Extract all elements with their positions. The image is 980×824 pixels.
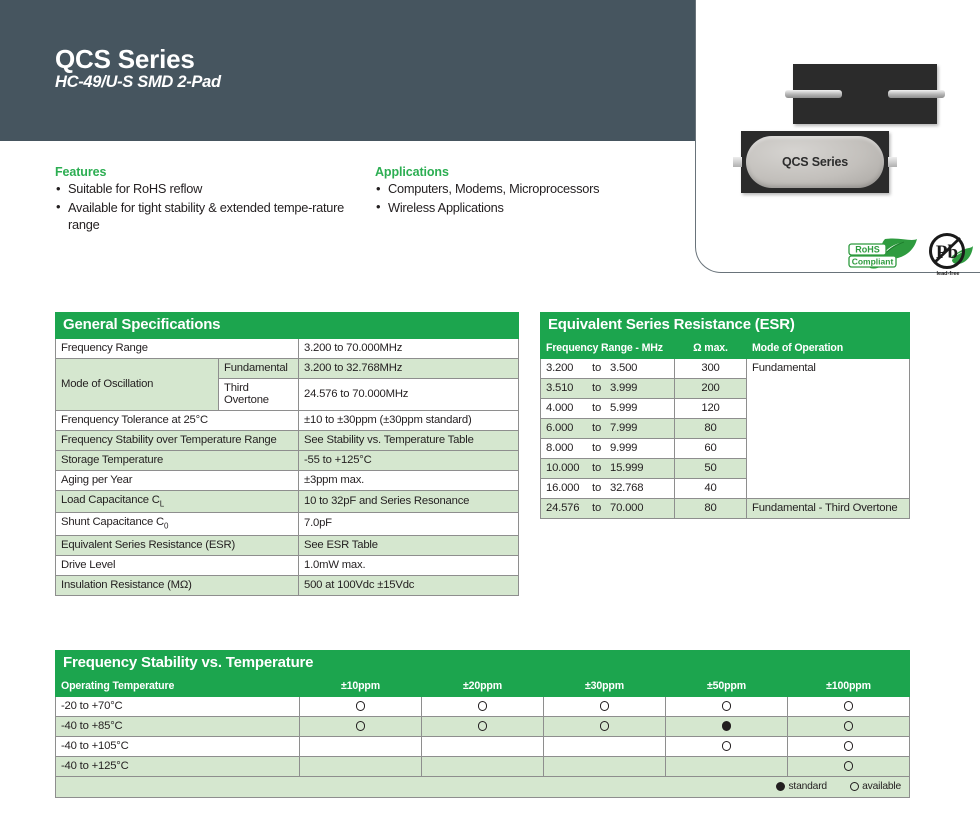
table-row: -40 to +85°C xyxy=(56,717,910,737)
legend-standard-label: standard xyxy=(788,781,826,792)
spec-label: Mode of Oscillation xyxy=(56,359,219,411)
table-row: Equivalent Series Resistance (ESR) See E… xyxy=(56,535,519,555)
spec-sublabel: Third Overtone xyxy=(219,379,299,411)
stability-col-30ppm: ±30ppm xyxy=(544,677,666,697)
stability-col-temperature: Operating Temperature xyxy=(56,677,300,697)
esr-col-frequency: Frequency Range - MHz xyxy=(541,339,675,359)
list-item: Wireless Applications xyxy=(375,199,675,217)
page-title: QCS Series xyxy=(55,44,195,75)
spec-sublabel: Fundamental xyxy=(219,359,299,379)
table-row: Frequency Range 3.200 to 70.000MHz xyxy=(56,339,519,359)
spec-label: Frenquency Tolerance at 25°C xyxy=(56,411,299,431)
available-dot-icon xyxy=(356,701,366,711)
range-to: 3.999 xyxy=(610,382,637,394)
range-sep: to xyxy=(592,362,610,374)
list-item: Suitable for RoHS reflow xyxy=(55,180,360,198)
esr-title: Equivalent Series Resistance (ESR) xyxy=(541,313,910,339)
spec-label-subscript: L xyxy=(160,499,164,508)
range-sep: to xyxy=(592,462,610,474)
table-row: Mode of Oscillation Fundamental 3.200 to… xyxy=(56,359,519,379)
available-dot-icon xyxy=(356,721,366,731)
table-header-row: Operating Temperature ±10ppm ±20ppm ±30p… xyxy=(56,677,910,697)
spec-value: 24.576 to 70.000MHz xyxy=(299,379,519,411)
spec-value: 3.200 to 32.768MHz xyxy=(299,359,519,379)
table-row: 3.200to3.500 300 Fundamental xyxy=(541,359,910,379)
esr-ohms-value: 60 xyxy=(675,439,747,459)
stability-col-20ppm: ±20ppm xyxy=(422,677,544,697)
esr-ohms-value: 200 xyxy=(675,379,747,399)
esr-frequency-range: 8.000to9.999 xyxy=(541,439,675,459)
stability-mark xyxy=(666,697,788,717)
spec-label: Frequency Stability over Temperature Ran… xyxy=(56,431,299,451)
table-row: -40 to +105°C xyxy=(56,737,910,757)
table-row: Aging per Year ±3ppm max. xyxy=(56,471,519,491)
esr-ohms-value: 50 xyxy=(675,459,747,479)
available-dot-icon xyxy=(722,701,732,711)
available-dot-icon xyxy=(844,701,854,711)
spec-label-subscript: 0 xyxy=(164,522,168,531)
esr-ohms-value: 80 xyxy=(675,419,747,439)
crystal-can: QCS Series xyxy=(746,136,884,188)
range-to: 7.999 xyxy=(610,422,637,434)
table-row: Load Capacitance CL 10 to 32pF and Serie… xyxy=(56,491,519,513)
spec-value: 7.0pF xyxy=(299,513,519,535)
spec-label: Equivalent Series Resistance (ESR) xyxy=(56,535,299,555)
stability-mark xyxy=(788,717,910,737)
spec-value: -55 to +125°C xyxy=(299,451,519,471)
table-row: -40 to +125°C xyxy=(56,757,910,777)
spec-value: 1.0mW max. xyxy=(299,555,519,575)
legend-available: available xyxy=(850,781,901,792)
stability-col-10ppm: ±10ppm xyxy=(300,677,422,697)
range-to: 15.999 xyxy=(610,462,643,474)
spec-label: Frequency Range xyxy=(56,339,299,359)
smd-pad-left-icon xyxy=(785,90,842,98)
table-row: Drive Level 1.0mW max. xyxy=(56,555,519,575)
frequency-stability-table: Frequency Stability vs. Temperature Oper… xyxy=(55,650,910,798)
crystal-can-label: QCS Series xyxy=(782,155,848,169)
esr-ohms-value: 300 xyxy=(675,359,747,379)
spec-label: Shunt Capacitance C0 xyxy=(56,513,299,535)
svg-text:Compliant: Compliant xyxy=(852,257,894,267)
range-to: 9.999 xyxy=(610,442,637,454)
spec-label-text: Shunt Capacitance C xyxy=(61,516,164,528)
stability-mark xyxy=(544,757,666,777)
spec-label: Storage Temperature xyxy=(56,451,299,471)
esr-ohms-value: 40 xyxy=(675,479,747,499)
spec-value: See Stability vs. Temperature Table xyxy=(299,431,519,451)
table-banner: Equivalent Series Resistance (ESR) xyxy=(541,313,910,339)
range-to: 3.500 xyxy=(610,362,637,374)
range-from: 8.000 xyxy=(546,442,592,454)
spec-label: Aging per Year xyxy=(56,471,299,491)
stability-legend: standard available xyxy=(56,777,910,798)
esr-table: Equivalent Series Resistance (ESR) Frequ… xyxy=(540,312,910,519)
esr-frequency-range: 3.510to3.999 xyxy=(541,379,675,399)
esr-col-mode: Mode of Operation xyxy=(747,339,910,359)
standard-dot-icon xyxy=(776,782,786,792)
table-row: 24.576to70.000 80 Fundamental - Third Ov… xyxy=(541,499,910,519)
page-subtitle: HC-49/U-S SMD 2-Pad xyxy=(55,73,221,92)
stability-mark xyxy=(300,737,422,757)
esr-frequency-range: 16.000to32.768 xyxy=(541,479,675,499)
range-sep: to xyxy=(592,422,610,434)
esr-col-ohms: Ω max. xyxy=(675,339,747,359)
spec-value: 10 to 32pF and Series Resonance xyxy=(299,491,519,513)
certification-logos: RoHS Compliant Pb lead-free xyxy=(848,231,973,277)
range-sep: to xyxy=(592,482,610,494)
available-dot-icon xyxy=(844,761,854,771)
esr-frequency-range: 4.000to5.999 xyxy=(541,399,675,419)
range-to: 5.999 xyxy=(610,402,637,414)
stability-mark xyxy=(544,737,666,757)
stability-mark xyxy=(422,737,544,757)
svg-text:lead-free: lead-free xyxy=(937,271,960,277)
legend-available-label: available xyxy=(862,781,901,792)
range-sep: to xyxy=(592,382,610,394)
features-heading: Features xyxy=(55,165,106,179)
stability-title: Frequency Stability vs. Temperature xyxy=(56,651,910,677)
stability-mark xyxy=(300,757,422,777)
spec-value: ±10 to ±30ppm (±30ppm standard) xyxy=(299,411,519,431)
stability-mark xyxy=(422,697,544,717)
esr-ohms-value: 80 xyxy=(675,499,747,519)
stability-mark xyxy=(666,757,788,777)
rohs-compliant-icon: RoHS Compliant xyxy=(848,236,920,272)
range-to: 32.768 xyxy=(610,482,643,494)
general-specifications-table: General Specifications Frequency Range 3… xyxy=(55,312,519,596)
table-row: Insulation Resistance (MΩ) 500 at 100Vdc… xyxy=(56,575,519,595)
available-dot-icon xyxy=(844,741,854,751)
spec-label: Load Capacitance CL xyxy=(56,491,299,513)
esr-frequency-range: 10.000to15.999 xyxy=(541,459,675,479)
esr-frequency-range: 24.576to70.000 xyxy=(541,499,675,519)
available-dot-icon xyxy=(600,721,610,731)
range-from: 6.000 xyxy=(546,422,592,434)
range-from: 16.000 xyxy=(546,482,592,494)
range-sep: to xyxy=(592,402,610,414)
smd-top-view-image xyxy=(793,64,937,124)
stability-legend-row: standard available xyxy=(56,777,910,798)
spec-value: See ESR Table xyxy=(299,535,519,555)
applications-list: Computers, Modems, Microprocessors Wirel… xyxy=(375,180,675,217)
smd-body-view-image: QCS Series xyxy=(741,131,889,193)
standard-dot-icon xyxy=(722,721,732,731)
table-row: Frequency Stability over Temperature Ran… xyxy=(56,431,519,451)
spec-label: Insulation Resistance (MΩ) xyxy=(56,575,299,595)
stability-col-100ppm: ±100ppm xyxy=(788,677,910,697)
esr-frequency-range: 3.200to3.500 xyxy=(541,359,675,379)
stability-mark xyxy=(544,717,666,737)
range-sep: to xyxy=(592,442,610,454)
table-banner: General Specifications xyxy=(56,313,519,339)
stability-temp-range: -20 to +70°C xyxy=(56,697,300,717)
stability-mark xyxy=(300,697,422,717)
spec-value: ±3ppm max. xyxy=(299,471,519,491)
stability-col-50ppm: ±50ppm xyxy=(666,677,788,697)
smd-lead-right-icon xyxy=(888,157,897,167)
smd-lead-left-icon xyxy=(733,157,742,167)
available-dot-icon xyxy=(850,782,860,792)
spec-label-text: Load Capacitance C xyxy=(61,494,160,506)
general-specs-title: General Specifications xyxy=(56,313,519,339)
range-from: 4.000 xyxy=(546,402,592,414)
stability-temp-range: -40 to +105°C xyxy=(56,737,300,757)
spec-value: 3.200 to 70.000MHz xyxy=(299,339,519,359)
range-sep: to xyxy=(592,502,610,514)
applications-heading: Applications xyxy=(375,165,449,179)
range-from: 10.000 xyxy=(546,462,592,474)
spec-value: 500 at 100Vdc ±15Vdc xyxy=(299,575,519,595)
stability-mark xyxy=(544,697,666,717)
smd-pad-right-icon xyxy=(888,90,945,98)
stability-mark xyxy=(788,737,910,757)
list-item: Available for tight stability & extended… xyxy=(55,199,360,234)
table-row: -20 to +70°C xyxy=(56,697,910,717)
range-from: 3.200 xyxy=(546,362,592,374)
stability-mark xyxy=(666,737,788,757)
stability-mark xyxy=(422,717,544,737)
available-dot-icon xyxy=(722,741,732,751)
esr-frequency-range: 6.000to7.999 xyxy=(541,419,675,439)
spec-label: Drive Level xyxy=(56,555,299,575)
features-list: Suitable for RoHS reflow Available for t… xyxy=(55,180,360,235)
available-dot-icon xyxy=(844,721,854,731)
available-dot-icon xyxy=(600,701,610,711)
table-banner: Frequency Stability vs. Temperature xyxy=(56,651,910,677)
range-from: 3.510 xyxy=(546,382,592,394)
available-dot-icon xyxy=(478,701,488,711)
list-item: Computers, Modems, Microprocessors xyxy=(375,180,675,198)
range-to: 70.000 xyxy=(610,502,643,514)
esr-ohms-value: 120 xyxy=(675,399,747,419)
esr-mode-value: Fundamental xyxy=(747,359,910,499)
svg-text:RoHS: RoHS xyxy=(855,245,880,255)
table-row: Shunt Capacitance C0 7.0pF xyxy=(56,513,519,535)
stability-temp-range: -40 to +85°C xyxy=(56,717,300,737)
stability-mark xyxy=(300,717,422,737)
table-header-row: Frequency Range - MHz Ω max. Mode of Ope… xyxy=(541,339,910,359)
table-row: Storage Temperature -55 to +125°C xyxy=(56,451,519,471)
range-from: 24.576 xyxy=(546,502,592,514)
stability-mark xyxy=(788,757,910,777)
table-row: Frenquency Tolerance at 25°C ±10 to ±30p… xyxy=(56,411,519,431)
lead-free-icon: Pb lead-free xyxy=(926,231,973,277)
stability-mark xyxy=(666,717,788,737)
legend-standard: standard xyxy=(776,781,827,792)
stability-mark xyxy=(422,757,544,777)
available-dot-icon xyxy=(478,721,488,731)
stability-mark xyxy=(788,697,910,717)
stability-temp-range: -40 to +125°C xyxy=(56,757,300,777)
esr-mode-value: Fundamental - Third Overtone xyxy=(747,499,910,519)
